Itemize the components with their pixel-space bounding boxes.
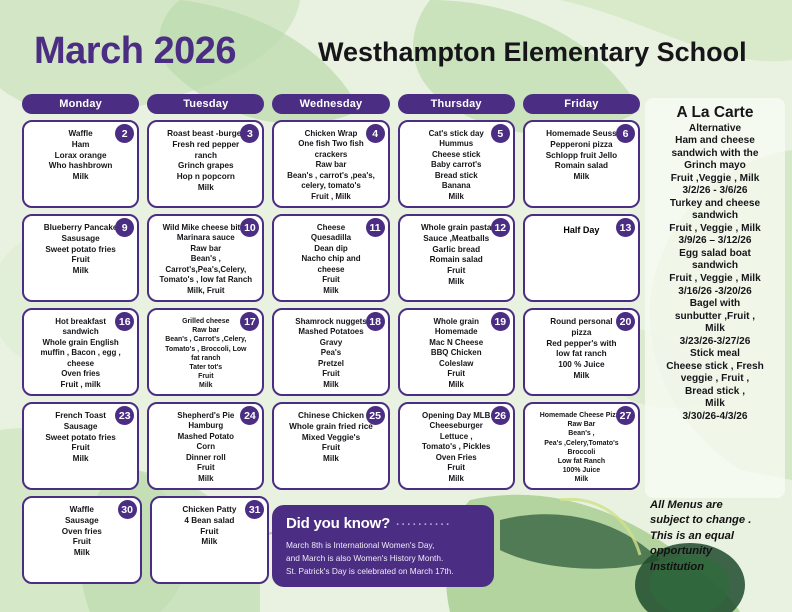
did-you-know-line: March 8th is International Women's Day,	[286, 539, 482, 552]
menu-item: Milk	[31, 548, 133, 559]
a-la-carte-line: Milk	[649, 398, 781, 411]
menu-item: Whole grain English	[31, 338, 130, 348]
menu-item-list: Shamrock nuggetsMashed PotatoesGravyPea'…	[279, 317, 382, 390]
menu-item: Lettuce ,	[407, 432, 506, 442]
disclaimer-line: This is an equal	[650, 529, 782, 544]
menu-item: Grinch grapes	[156, 161, 255, 172]
menu-item: Tomato's , Broccoli, Low	[156, 345, 255, 354]
menu-item: Raw bar	[156, 244, 255, 254]
menu-item: Milk	[407, 277, 506, 288]
menu-item: Fruit	[281, 369, 380, 379]
menu-item: Raw Bar	[532, 420, 631, 429]
menu-item: Fruit , milk	[31, 380, 130, 390]
menu-item: Hamburg	[156, 421, 255, 431]
a-la-carte-line: sunbutter ,Fruit ,	[649, 311, 781, 324]
day-number-badge: 30	[118, 500, 137, 519]
menu-item: Tomato's , low fat Ranch	[156, 275, 255, 285]
menu-item: Raw bar	[281, 160, 380, 170]
menu-item: Sauce ,Meatballs	[407, 234, 506, 245]
menu-item: Pretzel	[281, 359, 380, 369]
a-la-carte-line: Stick meal	[649, 348, 781, 361]
day-of-week-row: MondayTuesdayWednesdayThursdayFriday	[22, 94, 640, 114]
menu-item: Milk	[532, 172, 631, 183]
menu-item: Baby carrot's	[407, 160, 506, 170]
menu-item: Fruit , Milk	[281, 192, 380, 202]
dotted-rule: ..........	[396, 516, 452, 528]
calendar-week-row: 23French ToastSausageSweet potato friesF…	[22, 402, 640, 490]
menu-item: Sweet potato fries	[31, 245, 130, 256]
menu-item: Broccoli	[532, 448, 631, 457]
menu-item: Bean's ,	[156, 254, 255, 264]
menu-item: Milk	[159, 537, 261, 548]
day-number-badge: 18	[366, 312, 385, 331]
menu-item: Carrot's,Pea's,Celery,	[156, 265, 255, 275]
menu-item: Marinara sauce	[156, 233, 255, 243]
menu-item: Milk, Fruit	[156, 286, 255, 296]
menu-item: Ham	[31, 140, 130, 151]
menu-item: Cheese stick	[407, 150, 506, 160]
a-la-carte-line: Egg salad boat	[649, 248, 781, 261]
calendar-day-cell-16[interactable]: 16Hot breakfastsandwichWhole grain Engli…	[22, 308, 139, 396]
calendar-day-cell-17[interactable]: 17Grilled cheeseRaw barBean's , Carrot's…	[147, 308, 264, 396]
a-la-carte-line: sandwich	[649, 210, 781, 223]
menu-item: Mixed Veggie's	[281, 433, 380, 444]
menu-item: Fruit	[281, 443, 380, 454]
menu-item: Oven fries	[31, 527, 133, 538]
menu-item: Fruit	[156, 463, 255, 473]
menu-item: Bean's , carrot's ,pea's,	[281, 171, 380, 181]
a-la-carte-line: Turkey and cheese	[649, 198, 781, 211]
menu-item: Whole grain fried rice	[281, 422, 380, 433]
menu-item: Sasusage	[31, 234, 130, 245]
calendar-day-cell-6[interactable]: 6Homemade SeussPepperoni pizzaSchlopp fr…	[523, 120, 640, 208]
calendar-day-cell-26[interactable]: 26Opening Day MLBCheeseburgerLettuce ,To…	[398, 402, 515, 490]
day-number-badge: 13	[616, 218, 635, 237]
a-la-carte-line: 3/30/26-4/3/26	[649, 411, 781, 424]
calendar-day-cell-12[interactable]: 12Whole grain pastaSauce ,MeatballsGarli…	[398, 214, 515, 302]
a-la-carte-lines: AlternativeHam and cheesesandwich with t…	[649, 123, 781, 423]
a-la-carte-line: Grinch mayo	[649, 160, 781, 173]
day-number-badge: 6	[616, 124, 635, 143]
menu-item: Milk	[407, 474, 506, 484]
menu-item: Nacho chip and	[281, 254, 380, 264]
menu-item: Fruit	[407, 266, 506, 277]
menu-item: muffin , Bacon , egg ,	[31, 348, 130, 358]
menu-item-list: Homemade Cheese PizzaRaw BarBean's ,Pea'…	[530, 411, 633, 484]
menu-item: Hop n popcorn	[156, 172, 255, 183]
day-header-thursday: Thursday	[398, 94, 515, 114]
menu-item: crackers	[281, 150, 380, 160]
calendar-day-cell-19[interactable]: 19Whole grainHomemadeMac N CheeseBBQ Chi…	[398, 308, 515, 396]
menu-item: Garlic bread	[407, 245, 506, 256]
calendar-page: March 2026 Westhampton Elementary School…	[0, 0, 792, 612]
calendar-day-cell-18[interactable]: 18Shamrock nuggetsMashed PotatoesGravyPe…	[272, 308, 389, 396]
a-la-carte-line: sandwich with the	[649, 148, 781, 161]
menu-item-list: CheeseQuesadillaDean dipNacho chip andch…	[279, 223, 382, 296]
disclaimer-line: opportunity	[650, 544, 782, 559]
menu-item: Fruit	[407, 463, 506, 473]
did-you-know-line: St. Patrick's Day is celebrated on March…	[286, 565, 482, 578]
menu-item-list: Cat's stick dayHummusCheese stickBaby ca…	[405, 129, 508, 202]
menu-item: Gravy	[281, 338, 380, 348]
menu-item: cheese	[281, 265, 380, 275]
a-la-carte-line: 3/16/26 -3/20/26	[649, 286, 781, 299]
a-la-carte-title: A La Carte	[649, 104, 781, 122]
menu-item: Fruit	[281, 275, 380, 285]
menu-item: Milk	[31, 454, 130, 465]
menu-item-list: Whole grainHomemadeMac N CheeseBBQ Chick…	[405, 317, 508, 390]
page-header: March 2026 Westhampton Elementary School	[0, 0, 792, 88]
a-la-carte-line: 3/9/26 – 3/12/26	[649, 235, 781, 248]
menu-item: Fruit	[31, 255, 130, 266]
menu-item: Milk	[281, 380, 380, 390]
calendar-day-cell-25[interactable]: 25Chinese ChickenWhole grain fried riceM…	[272, 402, 389, 490]
menu-item-list: Opening Day MLBCheeseburgerLettuce ,Toma…	[405, 411, 508, 484]
calendar-day-cell-20[interactable]: 20Round personalpizzaRed pepper's withlo…	[523, 308, 640, 396]
a-la-carte-line: Fruit , Veggie , Milk	[649, 273, 781, 286]
calendar-day-cell-23[interactable]: 23French ToastSausageSweet potato friesF…	[22, 402, 139, 490]
calendar-day-cell-27[interactable]: 27Homemade Cheese PizzaRaw BarBean's ,Pe…	[523, 402, 640, 490]
menu-item: Milk	[407, 192, 506, 202]
day-number-badge: 5	[491, 124, 510, 143]
school-title: Westhampton Elementary School	[318, 37, 747, 68]
did-you-know-box: Did you know?.......... March 8th is Int…	[272, 505, 494, 587]
menu-item: Fruit	[407, 369, 506, 379]
menu-item: Quesadilla	[281, 233, 380, 243]
disclaimer-line: subject to change .	[650, 513, 782, 528]
menu-item: Low fat Ranch	[532, 457, 631, 466]
menu-item: Milk	[156, 381, 255, 390]
menu-item: Banana	[407, 181, 506, 191]
menu-item: Coleslaw	[407, 359, 506, 369]
day-number-badge: 19	[491, 312, 510, 331]
menu-item: Tater tot's	[156, 363, 255, 372]
menu-item: Schlopp fruit Jello	[532, 151, 631, 162]
calendar-day-cell-9[interactable]: 9Blueberry PancakeSasusageSweet potato f…	[22, 214, 139, 302]
menu-item: Sweet potato fries	[31, 433, 130, 444]
disclaimer-text: All Menus aresubject to change .This is …	[650, 498, 782, 575]
a-la-carte-line: Fruit ,Veggie , Milk	[649, 173, 781, 186]
a-la-carte-line: 3/2/26 - 3/6/26	[649, 185, 781, 198]
menu-item: Pepperoni pizza	[532, 140, 631, 151]
a-la-carte-line: sandwich	[649, 260, 781, 273]
calendar-week-row: 9Blueberry PancakeSasusageSweet potato f…	[22, 214, 640, 302]
a-la-carte-line: 3/23/26-3/27/26	[649, 336, 781, 349]
menu-item: Fruit	[159, 527, 261, 538]
menu-item: 100 % Juice	[532, 360, 631, 371]
calendar-day-cell-4[interactable]: 4Chicken WrapOne fish Two fishcrackersRa…	[272, 120, 389, 208]
menu-item: Milk	[281, 286, 380, 296]
menu-item: Mac N Cheese	[407, 338, 506, 348]
menu-item: 100% Juice	[532, 466, 631, 475]
day-number-badge: 12	[491, 218, 510, 237]
calendar-day-cell-3[interactable]: 3Roast beast -burgerFresh red pepperranc…	[147, 120, 264, 208]
day-header-wednesday: Wednesday	[272, 94, 389, 114]
menu-item: Pea's ,Celery,Tomato's	[532, 439, 631, 448]
did-you-know-line: and March is also Women's History Month.	[286, 552, 482, 565]
menu-item: Sausage	[31, 516, 133, 527]
calendar-week-row: 16Hot breakfastsandwichWhole grain Engli…	[22, 308, 640, 396]
menu-item: BBQ Chicken	[407, 348, 506, 358]
menu-item: Milk	[407, 380, 506, 390]
menu-item: cheese	[31, 359, 130, 369]
menu-item: Romain salad	[532, 161, 631, 172]
menu-item: Lorax orange	[31, 151, 130, 162]
calendar-day-cell-30[interactable]: 30WaffleSausageOven friesFruitMilk	[22, 496, 142, 584]
menu-item: Fruit	[156, 372, 255, 381]
day-header-tuesday: Tuesday	[147, 94, 264, 114]
calendar-day-cell-10[interactable]: 10Wild Mike cheese bitesMarinara sauceRa…	[147, 214, 264, 302]
disclaimer-line: Institution	[650, 560, 782, 575]
a-la-carte-panel: A La Carte AlternativeHam and cheesesand…	[645, 98, 785, 498]
menu-item: Fruit	[31, 443, 130, 454]
menu-item: Dean dip	[281, 244, 380, 254]
menu-item: fat ranch	[156, 354, 255, 363]
a-la-carte-line: Fruit , Veggie , Milk	[649, 223, 781, 236]
menu-item: Raw bar	[156, 326, 255, 335]
day-number-badge: 20	[616, 312, 635, 331]
day-number-badge: 25	[366, 406, 385, 425]
menu-item: Oven fries	[31, 369, 130, 379]
menu-item: Romain salad	[407, 255, 506, 266]
day-number-badge: 27	[616, 406, 635, 425]
menu-item: One fish Two fish	[281, 139, 380, 149]
menu-item: Sausage	[31, 422, 130, 433]
did-you-know-body: March 8th is International Women's Day,a…	[286, 539, 482, 578]
menu-item: Mashed Potato	[156, 432, 255, 442]
menu-item: Homemade	[407, 327, 506, 337]
calendar-week-row: 2WaffleHamLorax orangeWho hashbrownMilk3…	[22, 120, 640, 208]
a-la-carte-line: Alternative	[649, 123, 781, 136]
menu-item: Milk	[281, 454, 380, 465]
menu-item: Bread stick	[407, 171, 506, 181]
calendar-day-cell-31[interactable]: 31Chicken Patty4 Bean saladFruitMilk	[150, 496, 270, 584]
menu-item: Milk	[532, 371, 631, 382]
menu-item: Milk	[156, 474, 255, 484]
a-la-carte-line: Ham and cheese	[649, 135, 781, 148]
a-la-carte-line: Milk	[649, 323, 781, 336]
menu-item: Cheeseburger	[407, 421, 506, 431]
day-number-badge: 26	[491, 406, 510, 425]
a-la-carte-line: Cheese stick , Fresh	[649, 361, 781, 374]
day-number-badge: 11	[366, 218, 385, 237]
menu-item: Bean's , Carrot's ,Celery,	[156, 335, 255, 344]
menu-item: low fat ranch	[532, 349, 631, 360]
menu-item: Milk	[31, 266, 130, 277]
menu-item: Dinner roll	[156, 453, 255, 463]
calendar-day-cell-13[interactable]: 13Half Day	[523, 214, 640, 302]
menu-item: Fruit	[31, 537, 133, 548]
a-la-carte-line: Bread stick ,	[649, 386, 781, 399]
menu-item: Hummus	[407, 139, 506, 149]
month-title: March 2026	[34, 30, 236, 73]
menu-item: Bean's ,	[532, 429, 631, 438]
did-you-know-title: Did you know?..........	[286, 515, 482, 532]
calendar-cell-empty	[524, 496, 640, 584]
menu-item: celery, tomato's	[281, 181, 380, 191]
calendar-day-cell-5[interactable]: 5Cat's stick dayHummusCheese stickBaby c…	[398, 120, 515, 208]
menu-item: pizza	[532, 328, 631, 339]
did-you-know-title-text: Did you know?	[286, 515, 390, 532]
disclaimer-line: All Menus are	[650, 498, 782, 513]
calendar-day-cell-24[interactable]: 24Shepherd's PieHamburgMashed PotatoCorn…	[147, 402, 264, 490]
menu-item: Red pepper's with	[532, 339, 631, 350]
menu-item: Pea's	[281, 348, 380, 358]
day-number-badge: 4	[366, 124, 385, 143]
menu-item: Mashed Potatoes	[281, 327, 380, 337]
calendar-day-cell-11[interactable]: 11CheeseQuesadillaDean dipNacho chip and…	[272, 214, 389, 302]
menu-item: Milk	[156, 183, 255, 194]
a-la-carte-line: veggie , Fruit ,	[649, 373, 781, 386]
menu-item: Milk	[532, 475, 631, 484]
menu-item: ranch	[156, 151, 255, 162]
menu-item: Oven Fries	[407, 453, 506, 463]
menu-item: Milk	[31, 172, 130, 183]
menu-item: Tomato's , Pickles	[407, 442, 506, 452]
calendar-day-cell-2[interactable]: 2WaffleHamLorax orangeWho hashbrownMilk	[22, 120, 139, 208]
menu-item: Corn	[156, 442, 255, 452]
menu-item: sandwich	[31, 327, 130, 337]
a-la-carte-line: Bagel with	[649, 298, 781, 311]
day-header-monday: Monday	[22, 94, 139, 114]
day-header-friday: Friday	[523, 94, 640, 114]
menu-item-list: Chicken WrapOne fish Two fishcrackersRaw…	[279, 129, 382, 202]
menu-item: 4 Bean salad	[159, 516, 261, 527]
menu-item: Who hashbrown	[31, 161, 130, 172]
menu-item: Fresh red pepper	[156, 140, 255, 151]
